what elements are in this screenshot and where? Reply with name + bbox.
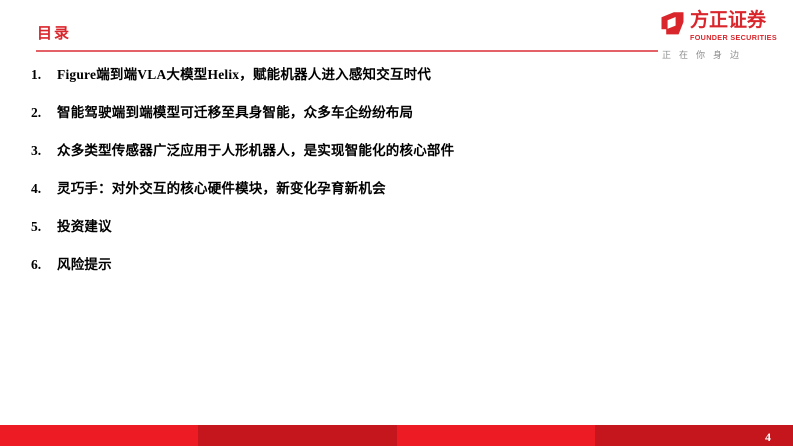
- toc-item-3[interactable]: 3. 众多类型传感器广泛应用于人形机器人，是实现智能化的核心部件: [31, 139, 731, 177]
- toc-item-label: 投资建议: [57, 215, 112, 235]
- logo-row: 方正证券 FOUNDER SECURITIES: [660, 11, 777, 43]
- toc-item-1[interactable]: 1. Figure端到端VLA大模型Helix，赋能机器人进入感知交互时代: [31, 63, 731, 101]
- toc-item-label: 众多类型传感器广泛应用于人形机器人，是实现智能化的核心部件: [57, 139, 454, 159]
- logo-tagline: 正在你身边: [662, 48, 747, 61]
- footer-segment-4: [595, 425, 793, 446]
- toc-item-6[interactable]: 6. 风险提示: [31, 253, 731, 291]
- toc-item-number: 3.: [31, 143, 57, 159]
- page-title: 目录: [37, 27, 71, 42]
- founder-cube-icon: [660, 11, 685, 36]
- footer-segment-1: [0, 425, 198, 446]
- toc-item-number: 1.: [31, 67, 57, 83]
- toc-item-5[interactable]: 5. 投资建议: [31, 215, 731, 253]
- logo-name-en: FOUNDER SECURITIES: [690, 33, 777, 43]
- toc-item-number: 2.: [31, 105, 57, 121]
- footer-segment-2: [198, 425, 396, 446]
- slide-root: 目录 方正证券 FOUNDER SECURITIES 正在你身边 1.: [0, 0, 793, 446]
- toc-list: 1. Figure端到端VLA大模型Helix，赋能机器人进入感知交互时代 2.…: [31, 63, 731, 291]
- page-number: 4: [765, 431, 771, 443]
- footer-segment-3: [397, 425, 595, 446]
- footer-bar: [0, 425, 793, 446]
- toc-item-number: 6.: [31, 257, 57, 273]
- logo-name-cn: 方正证券: [690, 11, 777, 31]
- brand-logo: 方正证券 FOUNDER SECURITIES 正在你身边: [660, 11, 785, 59]
- toc-item-label: 风险提示: [57, 253, 112, 273]
- toc-item-number: 5.: [31, 219, 57, 235]
- slide-header: 目录 方正证券 FOUNDER SECURITIES 正在你身边: [0, 0, 793, 56]
- toc-item-label: 灵巧手：对外交互的核心硬件模块，新变化孕育新机会: [57, 177, 386, 197]
- toc-item-label: 智能驾驶端到端模型可迁移至具身智能，众多车企纷纷布局: [57, 101, 413, 121]
- toc-item-4[interactable]: 4. 灵巧手：对外交互的核心硬件模块，新变化孕育新机会: [31, 177, 731, 215]
- toc-item-number: 4.: [31, 181, 57, 197]
- header-divider: [36, 50, 658, 52]
- toc-item-2[interactable]: 2. 智能驾驶端到端模型可迁移至具身智能，众多车企纷纷布局: [31, 101, 731, 139]
- logo-wordmark: 方正证券 FOUNDER SECURITIES: [690, 11, 777, 43]
- toc-item-label: Figure端到端VLA大模型Helix，赋能机器人进入感知交互时代: [57, 63, 431, 83]
